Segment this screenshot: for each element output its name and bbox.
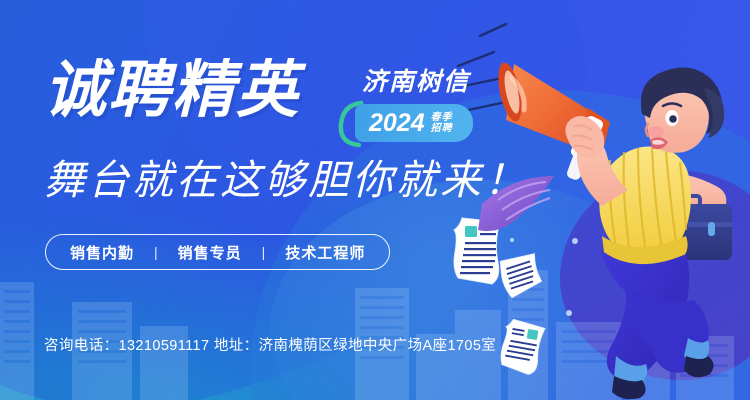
- position-item-1: 销售内勤: [70, 242, 134, 263]
- character-head: [641, 68, 724, 153]
- position-item-3: 技术工程师: [285, 242, 365, 263]
- badge-sub-line2: 招聘: [431, 123, 453, 134]
- contact-info: 咨询电话：13210591117 地址：济南槐荫区绿地中央广场A座1705室: [44, 334, 496, 355]
- year-badge: 2024 春季 招聘: [355, 104, 473, 142]
- headline-title: 诚聘精英: [44, 60, 300, 122]
- positions-pill: 销售内勤 | 销售专员 | 技术工程师: [45, 234, 390, 270]
- character-legs: [600, 250, 714, 399]
- banner-text-content: 诚聘精英 济南树信 2024 春季 招聘 舞台就在这够胆你就来！ 销售内勤 | …: [0, 0, 560, 400]
- badge-year-text: 2024: [369, 111, 425, 136]
- character-shirt: [599, 147, 691, 255]
- badge-sub-line1: 春季: [431, 112, 453, 123]
- subheadline: 舞台就在这够胆你就来！: [44, 160, 528, 201]
- position-separator: |: [242, 244, 286, 260]
- badge-subtitle: 春季 招聘: [431, 112, 453, 134]
- position-separator: |: [134, 244, 178, 260]
- position-item-2: 销售专员: [178, 242, 242, 263]
- company-name: 济南树信: [362, 70, 470, 95]
- recruitment-banner: 诚聘精英 济南树信 2024 春季 招聘 舞台就在这够胆你就来！ 销售内勤 | …: [0, 0, 750, 400]
